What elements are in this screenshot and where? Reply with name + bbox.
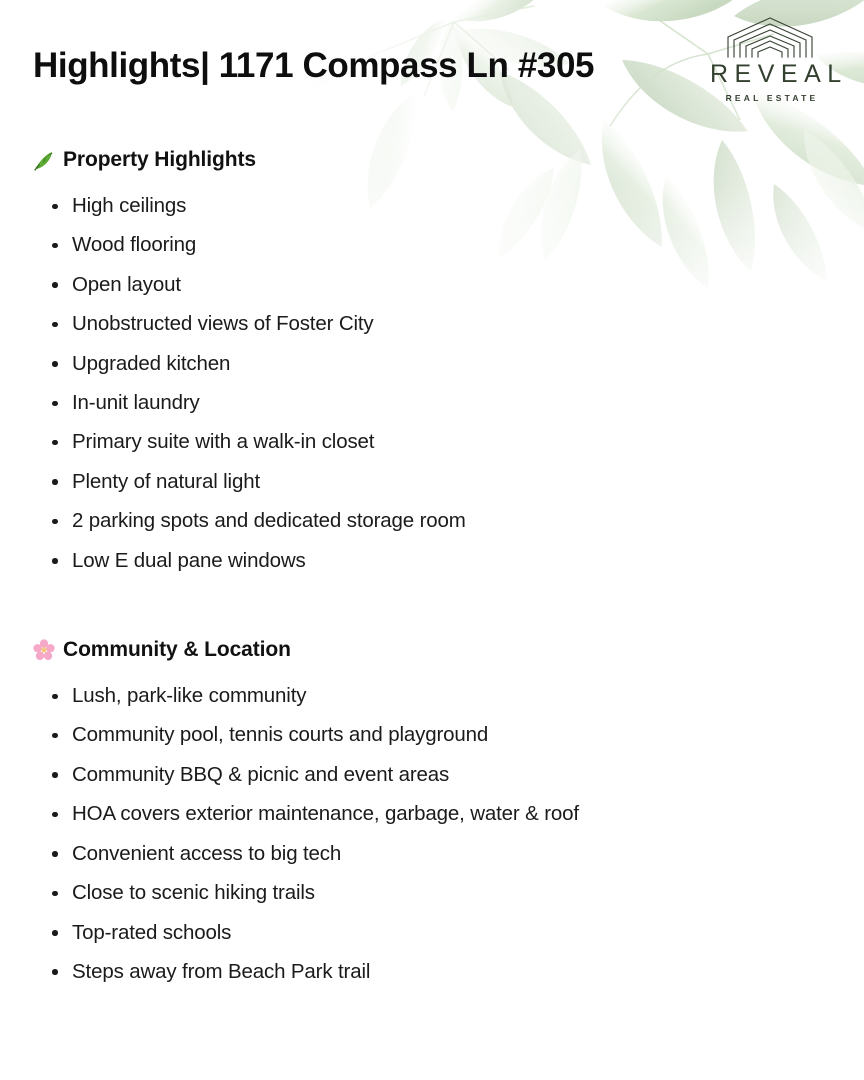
list-item: In-unit laundry — [52, 383, 864, 422]
cherry-blossom-icon — [33, 639, 55, 661]
list-item: Open layout — [52, 265, 864, 304]
property-highlights-list: High ceilings Wood flooring Open layout … — [0, 186, 864, 580]
list-item: Primary suite with a walk-in closet — [52, 422, 864, 461]
list-item: Community BBQ & picnic and event areas — [52, 755, 864, 794]
list-item: Convenient access to big tech — [52, 834, 864, 873]
section-title: Property Highlights — [63, 148, 256, 172]
list-item: Upgraded kitchen — [52, 344, 864, 383]
section-property-highlights: Property Highlights High ceilings Wood f… — [0, 148, 864, 580]
list-item: Low E dual pane windows — [52, 541, 864, 580]
list-item: Steps away from Beach Park trail — [52, 952, 864, 991]
section-community-location: Community & Location Lush, park-like com… — [0, 638, 864, 991]
list-item: Unobstructed views of Foster City — [52, 304, 864, 343]
section-heading: Property Highlights — [0, 148, 864, 172]
list-item: Close to scenic hiking trails — [52, 873, 864, 912]
list-item: High ceilings — [52, 186, 864, 225]
page-title: Highlights| 1171 Compass Ln #305 — [33, 46, 594, 86]
list-item: 2 parking spots and dedicated storage ro… — [52, 501, 864, 540]
flyer-page: Highlights| 1171 Compass Ln #305 REVEAL … — [0, 0, 864, 1080]
list-item: Wood flooring — [52, 225, 864, 264]
brand-logo: REVEAL REAL ESTATE — [704, 16, 836, 103]
reveal-nested-arch-mark — [724, 16, 816, 58]
herb-leaf-icon — [33, 149, 55, 171]
list-item: Plenty of natural light — [52, 462, 864, 501]
list-item: Community pool, tennis courts and playgr… — [52, 715, 864, 754]
highlights-content: Property Highlights High ceilings Wood f… — [0, 148, 864, 991]
list-item: Top-rated schools — [52, 913, 864, 952]
community-location-list: Lush, park-like community Community pool… — [0, 676, 864, 991]
section-title: Community & Location — [63, 638, 291, 662]
section-heading: Community & Location — [0, 638, 864, 662]
list-item: Lush, park-like community — [52, 676, 864, 715]
brand-tagline: REAL ESTATE — [704, 93, 836, 103]
brand-wordmark: REVEAL — [704, 62, 836, 87]
list-item: HOA covers exterior maintenance, garbage… — [52, 794, 864, 833]
